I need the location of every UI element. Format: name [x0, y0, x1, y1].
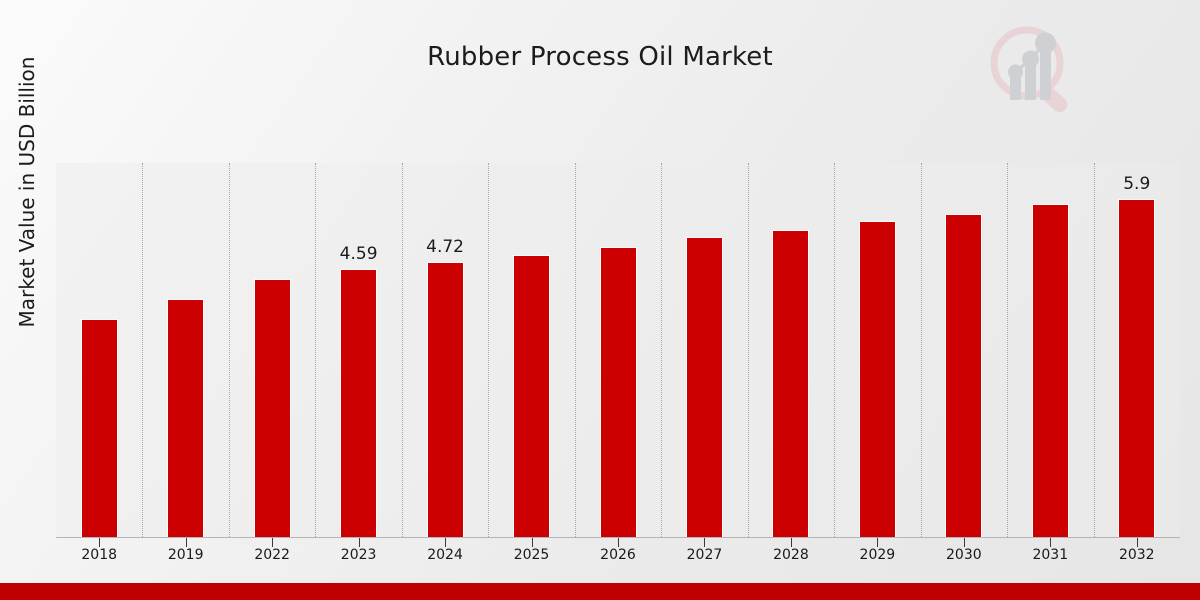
- axis-tick: [99, 538, 100, 547]
- bar-value-label-2032: 5.9: [1097, 174, 1177, 194]
- chart-container: Rubber Process Oil Market Market V: [0, 0, 1200, 600]
- axis-tick: [964, 538, 965, 547]
- gridline: [748, 163, 749, 537]
- axis-tick: [1137, 538, 1138, 547]
- axis-tick: [272, 538, 273, 547]
- axis-tick: [791, 538, 792, 547]
- gridline: [1094, 163, 1095, 537]
- bar-2028[interactable]: [773, 231, 808, 537]
- gridline: [834, 163, 835, 537]
- axis-tick: [1050, 538, 1051, 547]
- plot-area: [56, 163, 1180, 537]
- gridline: [142, 163, 143, 537]
- gridline: [575, 163, 576, 537]
- x-tick-label-2031: 2031: [1010, 547, 1090, 563]
- x-tick-label-2024: 2024: [405, 547, 485, 563]
- bar-2026[interactable]: [601, 248, 636, 537]
- x-tick-label-2029: 2029: [837, 547, 917, 563]
- bar-value-label-2024: 4.72: [405, 237, 485, 257]
- axis-tick: [532, 538, 533, 547]
- gridline: [1007, 163, 1008, 537]
- axis-tick: [704, 538, 705, 547]
- x-tick-label-2018: 2018: [59, 547, 139, 563]
- page-title: Rubber Process Oil Market: [0, 42, 1200, 72]
- x-tick-label-2019: 2019: [146, 547, 226, 563]
- x-tick-label-2028: 2028: [751, 547, 831, 563]
- bar-2027[interactable]: [687, 238, 722, 537]
- gridline: [229, 163, 230, 537]
- bar-2018[interactable]: [82, 320, 117, 537]
- bar-2032[interactable]: [1119, 200, 1154, 537]
- axis-tick: [877, 538, 878, 547]
- footer-accent-bar: [0, 583, 1200, 600]
- x-tick-label-2023: 2023: [319, 547, 399, 563]
- axis-tick: [359, 538, 360, 547]
- bar-2023[interactable]: [341, 270, 376, 537]
- gridline: [402, 163, 403, 537]
- axis-tick: [186, 538, 187, 547]
- bar-2030[interactable]: [946, 215, 981, 537]
- bar-2024[interactable]: [428, 263, 463, 537]
- x-tick-label-2026: 2026: [578, 547, 658, 563]
- x-tick-label-2030: 2030: [924, 547, 1004, 563]
- bar-2022[interactable]: [255, 280, 290, 537]
- x-tick-label-2025: 2025: [492, 547, 572, 563]
- axis-tick: [618, 538, 619, 547]
- bar-value-label-2023: 4.59: [319, 244, 399, 264]
- gridline: [661, 163, 662, 537]
- gridline: [488, 163, 489, 537]
- gridline: [921, 163, 922, 537]
- x-tick-label-2032: 2032: [1097, 547, 1177, 563]
- bar-2031[interactable]: [1033, 205, 1068, 537]
- bar-2019[interactable]: [168, 300, 203, 537]
- y-axis-label: Market Value in USD Billion: [15, 0, 45, 387]
- axis-tick: [445, 538, 446, 547]
- gridline: [315, 163, 316, 537]
- bar-2025[interactable]: [514, 256, 549, 537]
- x-tick-label-2027: 2027: [664, 547, 744, 563]
- x-tick-label-2022: 2022: [232, 547, 312, 563]
- bar-2029[interactable]: [860, 222, 895, 537]
